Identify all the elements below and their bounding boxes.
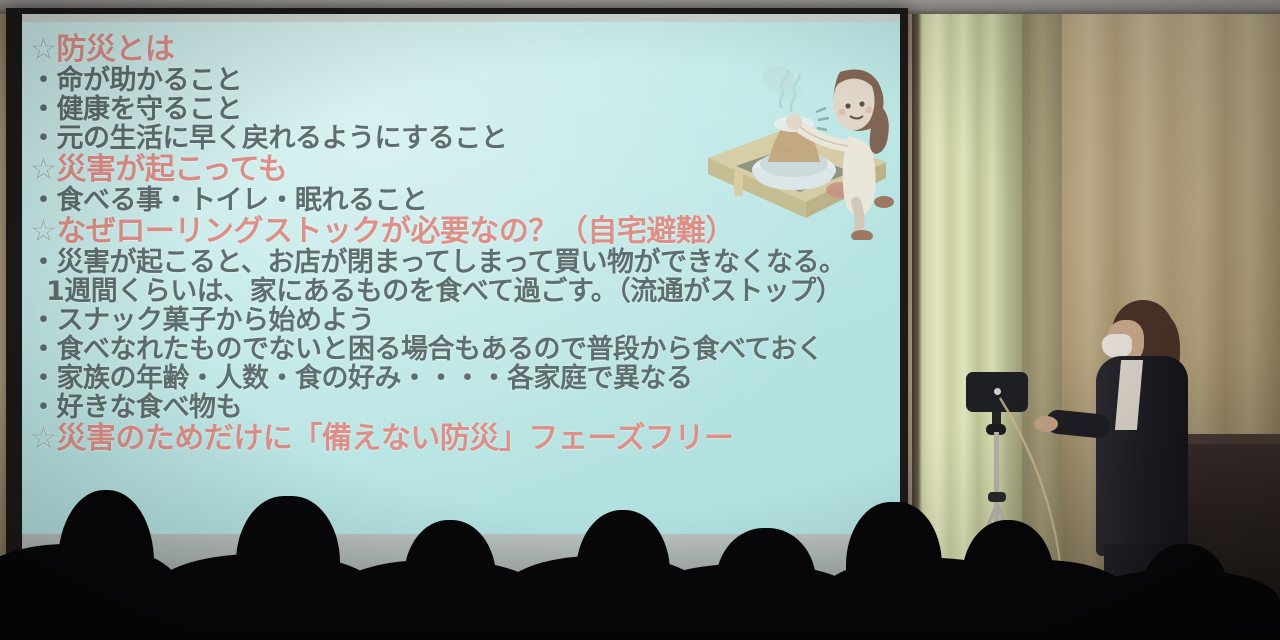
slide-line: ・食べなれたものでないと困る場合もあるので普段から食べておく <box>30 336 900 363</box>
star-bullet-icon: ☆ <box>30 152 56 187</box>
slide-line-text: 防災とは <box>56 32 174 67</box>
slide-line-text: なぜローリングストックが必要なの？（自宅避難） <box>56 214 735 249</box>
slide-line: ☆災害のためだけに「備えない防災」フェーズフリー <box>30 424 900 454</box>
star-bullet-icon: ☆ <box>30 421 56 456</box>
presenter-hand <box>1034 416 1058 432</box>
slide-line: ・好きな食べ物も <box>30 394 900 421</box>
slide-line: ・スナック菓子から始めよう <box>30 307 900 334</box>
presentation-slide: ☆防災とは ・命が助かること ・健康を守ること ・元の生活に早く戻れるようにする… <box>22 22 900 534</box>
speaker-led-icon <box>994 388 1001 395</box>
slide-line: ・災害が起こると、お店が閉まってしまって買い物ができなくなる。 <box>30 249 900 276</box>
speaker-cabinet <box>966 372 1028 412</box>
woman-cooking-pot-illustration <box>690 50 900 240</box>
audience-floor-shadow <box>0 616 1280 640</box>
lecture-hall-background: ☆防災とは ・命が助かること ・健康を守ること ・元の生活に早く戻れるようにする… <box>0 0 1280 640</box>
slide-line: ・家族の年齢・人数・食の好み・・・・各家庭で異なる <box>30 365 900 392</box>
star-bullet-icon: ☆ <box>30 32 56 67</box>
star-bullet-icon: ☆ <box>30 214 56 249</box>
slide-line: 1週間くらいは、家にあるものを食べて過ごす。（流通がストップ） <box>30 278 900 305</box>
slide-line-text: 災害が起こっても <box>56 152 287 187</box>
slide-line-text: 災害のためだけに「備えない防災」フェーズフリー <box>56 421 733 456</box>
audience-silhouettes <box>0 460 1280 640</box>
face-mask <box>1102 334 1132 358</box>
